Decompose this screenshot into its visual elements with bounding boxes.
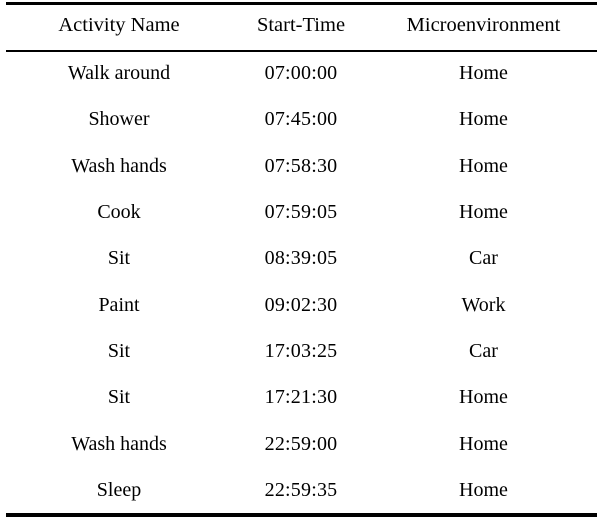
cell-microenvironment: Car bbox=[370, 328, 597, 374]
column-header-activity-name: Activity Name bbox=[6, 0, 232, 50]
cell-microenvironment: Home bbox=[370, 50, 597, 96]
table-bottom-rule bbox=[6, 513, 597, 517]
cell-start-time: 07:00:00 bbox=[232, 50, 370, 96]
activity-table: Activity Name Start-Time Microenvironmen… bbox=[6, 0, 597, 513]
cell-microenvironment: Car bbox=[370, 235, 597, 281]
table-row: Shower 07:45:00 Home bbox=[6, 96, 597, 142]
cell-activity-name: Sit bbox=[6, 328, 232, 374]
cell-start-time: 07:45:00 bbox=[232, 96, 370, 142]
cell-microenvironment: Home bbox=[370, 143, 597, 189]
cell-start-time: 17:21:30 bbox=[232, 374, 370, 420]
cell-microenvironment: Home bbox=[370, 96, 597, 142]
table-header: Activity Name Start-Time Microenvironmen… bbox=[6, 0, 597, 50]
table-header-row: Activity Name Start-Time Microenvironmen… bbox=[6, 0, 597, 50]
table-row: Wash hands 07:58:30 Home bbox=[6, 143, 597, 189]
cell-activity-name: Sleep bbox=[6, 467, 232, 513]
table-row: Sit 08:39:05 Car bbox=[6, 235, 597, 281]
cell-start-time: 08:39:05 bbox=[232, 235, 370, 281]
cell-microenvironment: Home bbox=[370, 374, 597, 420]
cell-activity-name: Paint bbox=[6, 281, 232, 327]
cell-activity-name: Sit bbox=[6, 374, 232, 420]
cell-activity-name: Shower bbox=[6, 96, 232, 142]
cell-start-time: 22:59:00 bbox=[232, 420, 370, 466]
table-row: Sit 17:21:30 Home bbox=[6, 374, 597, 420]
table-row: Paint 09:02:30 Work bbox=[6, 281, 597, 327]
column-header-start-time: Start-Time bbox=[232, 0, 370, 50]
activity-table-container: Activity Name Start-Time Microenvironmen… bbox=[0, 0, 603, 525]
cell-start-time: 09:02:30 bbox=[232, 281, 370, 327]
table-row: Sleep 22:59:35 Home bbox=[6, 467, 597, 513]
cell-microenvironment: Home bbox=[370, 189, 597, 235]
cell-start-time: 07:58:30 bbox=[232, 143, 370, 189]
cell-start-time: 07:59:05 bbox=[232, 189, 370, 235]
table-header-rule bbox=[6, 50, 597, 52]
table-row: Sit 17:03:25 Car bbox=[6, 328, 597, 374]
cell-start-time: 22:59:35 bbox=[232, 467, 370, 513]
cell-activity-name: Cook bbox=[6, 189, 232, 235]
cell-activity-name: Wash hands bbox=[6, 420, 232, 466]
cell-microenvironment: Home bbox=[370, 467, 597, 513]
table-row: Wash hands 22:59:00 Home bbox=[6, 420, 597, 466]
table-body: Walk around 07:00:00 Home Shower 07:45:0… bbox=[6, 50, 597, 513]
table-row: Cook 07:59:05 Home bbox=[6, 189, 597, 235]
cell-activity-name: Walk around bbox=[6, 50, 232, 96]
cell-microenvironment: Home bbox=[370, 420, 597, 466]
table-top-rule bbox=[6, 2, 597, 5]
table-row: Walk around 07:00:00 Home bbox=[6, 50, 597, 96]
cell-activity-name: Sit bbox=[6, 235, 232, 281]
cell-start-time: 17:03:25 bbox=[232, 328, 370, 374]
cell-activity-name: Wash hands bbox=[6, 143, 232, 189]
column-header-microenvironment: Microenvironment bbox=[370, 0, 597, 50]
cell-microenvironment: Work bbox=[370, 281, 597, 327]
